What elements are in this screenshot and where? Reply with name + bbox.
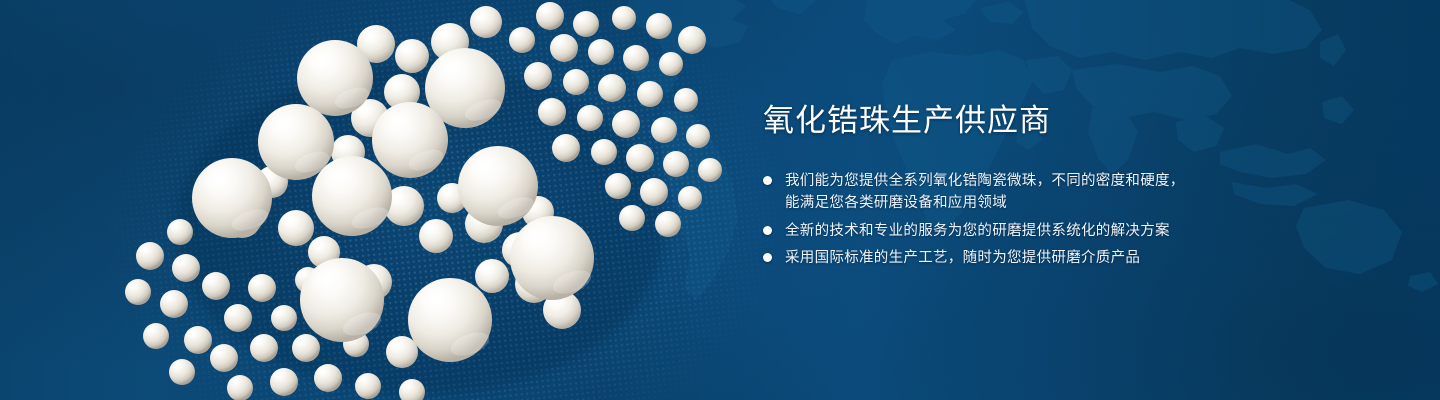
banner-copy: 氧化锆珠生产供应商 我们能为您提供全系列氧化锆陶瓷微珠，不同的密度和硬度， 能满…	[763, 104, 1403, 275]
bullet-dot-icon	[763, 253, 772, 262]
bullet-text: 全新的技术和专业的服务为您的研磨提供系统化的解决方案	[785, 220, 1170, 243]
bullet-item: 全新的技术和专业的服务为您的研磨提供系统化的解决方案	[763, 220, 1403, 243]
bullet-item: 采用国际标准的生产工艺，随时为您提供研磨介质产品	[763, 247, 1403, 270]
bullet-dot-icon	[763, 226, 772, 235]
zirconia-beads-photo	[120, 0, 740, 400]
bullet-text: 采用国际标准的生产工艺，随时为您提供研磨介质产品	[785, 247, 1140, 270]
bullet-text: 我们能为您提供全系列氧化锆陶瓷微珠，不同的密度和硬度， 能满足您各类研磨设备和应…	[785, 170, 1185, 215]
bullet-item: 我们能为您提供全系列氧化锆陶瓷微珠，不同的密度和硬度， 能满足您各类研磨设备和应…	[763, 170, 1403, 215]
banner-bullet-list: 我们能为您提供全系列氧化锆陶瓷微珠，不同的密度和硬度， 能满足您各类研磨设备和应…	[763, 170, 1403, 270]
bullet-text-line: 采用国际标准的生产工艺，随时为您提供研磨介质产品	[785, 247, 1140, 270]
banner-headline: 氧化锆珠生产供应商	[763, 104, 1403, 140]
hero-banner: 氧化锆珠生产供应商 我们能为您提供全系列氧化锆陶瓷微珠，不同的密度和硬度， 能满…	[0, 0, 1440, 400]
bullet-text-line: 全新的技术和专业的服务为您的研磨提供系统化的解决方案	[785, 220, 1170, 243]
bullet-text-line: 能满足您各类研磨设备和应用领域	[785, 192, 1185, 215]
bullet-dot-icon	[763, 176, 772, 185]
bullet-text-line: 我们能为您提供全系列氧化锆陶瓷微珠，不同的密度和硬度，	[785, 170, 1185, 193]
bead-cluster	[120, 0, 740, 400]
